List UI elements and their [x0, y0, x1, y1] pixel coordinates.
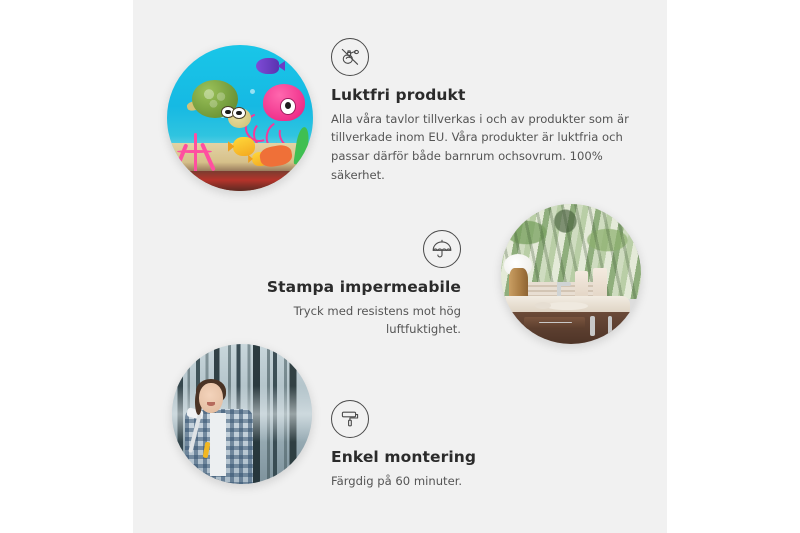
- feature-image-installer: [172, 344, 312, 484]
- feature-title: Stampa impermeabile: [218, 278, 461, 297]
- umbrella-icon: [423, 230, 461, 268]
- pink-coral: [176, 133, 217, 174]
- feature-description: Färgdig på 60 minuter.: [331, 472, 591, 491]
- paint-roller-icon: [331, 400, 369, 438]
- vanity-cabinet: [507, 312, 633, 344]
- no-fragrance-icon: [331, 38, 369, 76]
- feature-image-underwater: [167, 45, 313, 191]
- sea-turtle: [187, 77, 248, 130]
- purple-fish: [256, 58, 279, 74]
- feature-description: Alla våra tavlor tillverkas i och av pro…: [331, 110, 631, 185]
- woman-installer: [180, 383, 258, 484]
- icon-wrapper: [218, 230, 461, 268]
- feature-block-montering: Enkel montering Färgdig på 60 minuter.: [331, 400, 591, 490]
- icon-wrapper: [331, 38, 631, 76]
- icon-wrapper: [331, 400, 591, 438]
- feature-block-luktfri: Luktfri produkt Alla våra tavlor tillver…: [331, 38, 631, 185]
- feature-image-bathroom: [501, 204, 641, 344]
- poster-canvas: Luktfri produkt Alla våra tavlor tillver…: [0, 0, 800, 533]
- yellow-fish: [233, 137, 255, 156]
- feature-block-impermeabile: Stampa impermeabile Tryck med resistens …: [218, 230, 461, 339]
- feature-title: Luktfri produkt: [331, 86, 631, 105]
- feature-title: Enkel montering: [331, 448, 591, 467]
- feature-description: Tryck med resistens mot hög luftfuktighe…: [218, 302, 461, 340]
- sea-floor-foreground: [167, 171, 313, 191]
